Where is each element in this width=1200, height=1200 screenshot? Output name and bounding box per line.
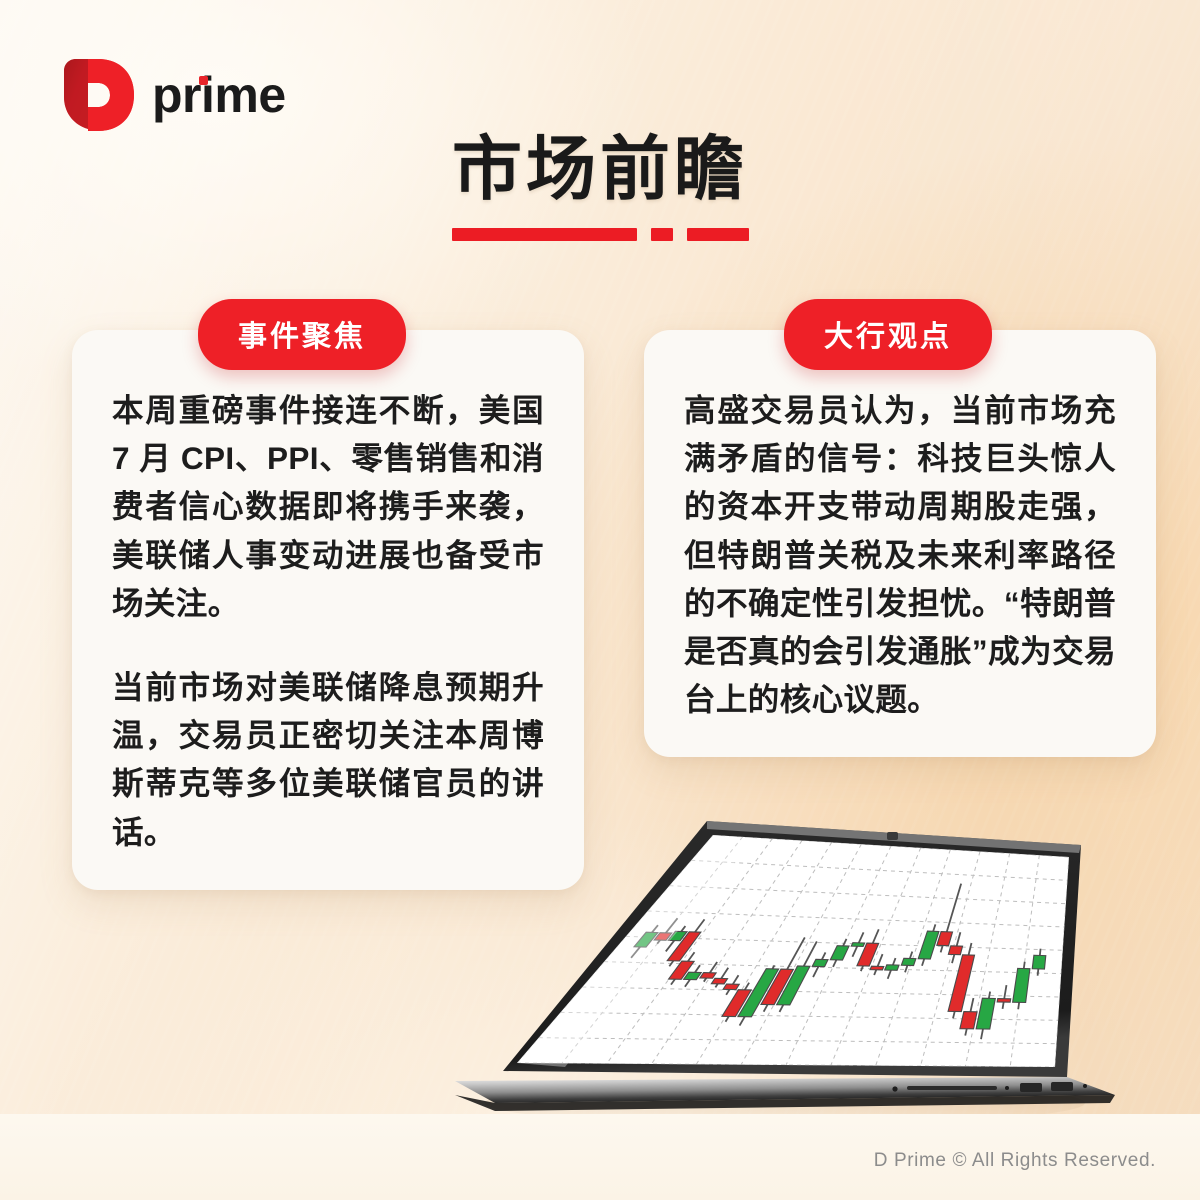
badge-bank-view: 大行观点: [784, 299, 992, 370]
title-underline-decoration: [0, 228, 1200, 241]
underline-segment-long: [452, 228, 637, 241]
laptop-illustration: [455, 795, 1115, 1125]
brand-logo[interactable]: prime: [58, 55, 286, 135]
card-paragraph: 高盛交易员认为，当前市场充满矛盾的信号：科技巨头惊人的资本开支带动周期股走强，但…: [684, 386, 1116, 723]
d-prime-logo-icon: [58, 55, 138, 135]
card-bank-view: 大行观点 高盛交易员认为，当前市场充满矛盾的信号：科技巨头惊人的资本开支带动周期…: [644, 330, 1156, 757]
brand-wordmark-text: prime: [152, 67, 286, 123]
page-title: 市场前瞻: [0, 132, 1200, 208]
footer-copyright: D Prime © All Rights Reserved.: [874, 1150, 1156, 1172]
badge-event-focus: 事件聚焦: [198, 299, 406, 370]
title-block: 市场前瞻: [0, 132, 1200, 241]
underline-segment-dot: [651, 228, 673, 241]
brand-wordmark: prime: [152, 70, 286, 120]
i-dot-accent: [199, 76, 208, 85]
card-paragraph: 本周重磅事件接连不断，美国 7 月 CPI、PPI、零售销售和消费者信心数据即将…: [112, 386, 544, 627]
underline-segment-mid: [687, 228, 749, 241]
poster-canvas: prime 市场前瞻 事件聚焦 本周重磅事件接连不断，美国 7 月 CPI、PP…: [0, 0, 1200, 1200]
